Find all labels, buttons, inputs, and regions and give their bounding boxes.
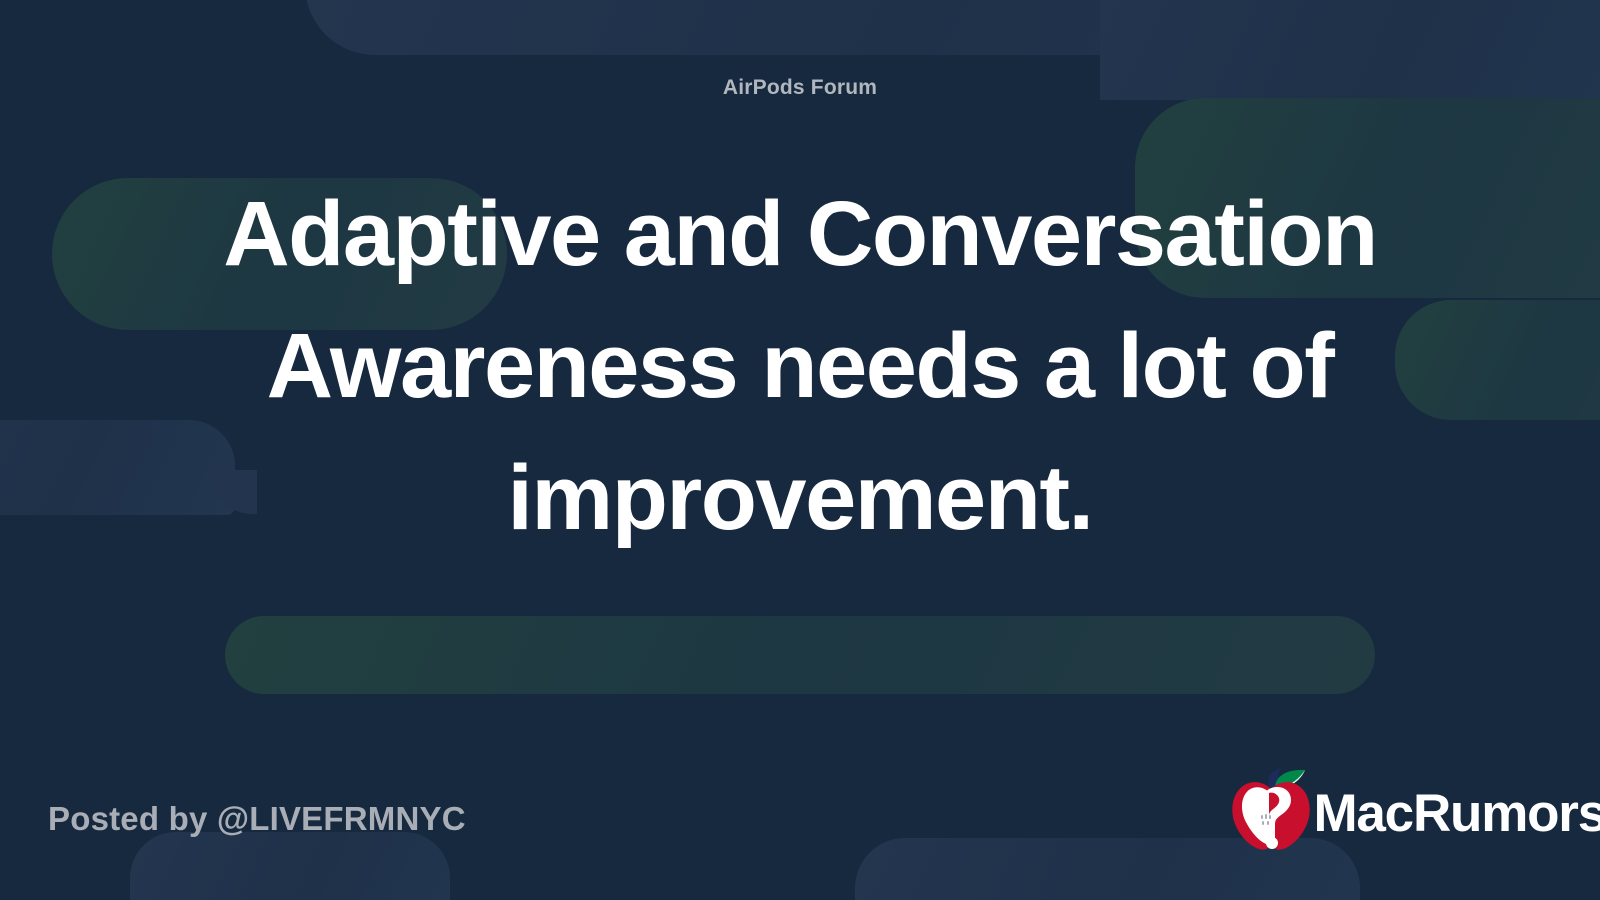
card-footer: Posted by @LIVEFRMNYC bbox=[0, 740, 1600, 900]
macrumors-wordmark: MacRumors bbox=[1313, 787, 1600, 840]
posted-by-label: Posted by @LIVEFRMNYC bbox=[48, 800, 466, 838]
macrumors-apple-question-mark-logo bbox=[1225, 768, 1317, 852]
forum-name-label: AirPods Forum bbox=[0, 76, 1600, 100]
page-title: Adaptive and Conversation Awareness need… bbox=[60, 168, 1540, 564]
share-card: AirPods Forum Adaptive and Conversation … bbox=[0, 0, 1600, 900]
macrumors-logo[interactable]: MacRumors bbox=[1225, 768, 1600, 852]
